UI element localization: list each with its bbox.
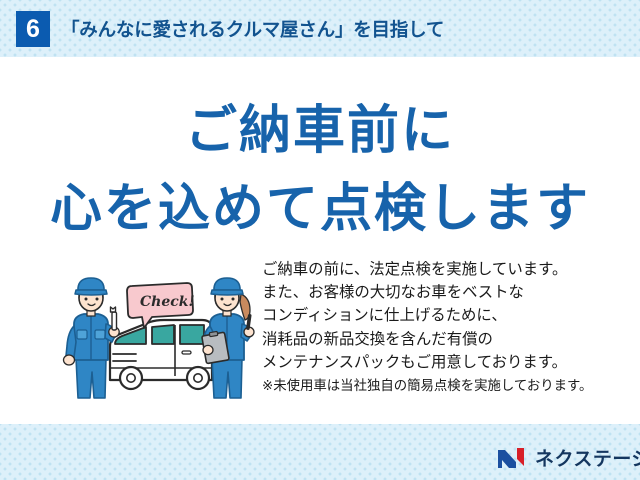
header: 6 「みんなに愛されるクルマ屋さん」を目指して [16, 11, 444, 47]
body-line: メンテナンスパックもご用意しております。 [262, 351, 634, 374]
body-line: ご納車の前に、法定点検を実施しています。 [262, 258, 634, 281]
headline-line-2: 心を込めて点検します [0, 166, 640, 241]
wrench-icon [111, 307, 117, 330]
section-number-badge: 6 [16, 11, 50, 47]
body-line: 消耗品の新品交換を含んだ有償の [262, 328, 634, 351]
speech-bubble-text: Check! [140, 294, 195, 310]
headline-line-1: ご納車前に [0, 88, 640, 163]
advertisement-frame: 6 「みんなに愛されるクルマ屋さん」を目指して ご納車前に 心を込めて点検します… [0, 0, 640, 480]
body-line: コンディションに仕上げるために、 [262, 304, 634, 327]
van-illustration [110, 320, 212, 389]
nextage-n-mark-icon [497, 446, 528, 470]
mechanics-illustration: Check! [62, 272, 262, 400]
brand-logo: ネクステージ [497, 444, 640, 471]
brand-name: ネクステージ [535, 444, 640, 471]
header-title: 「みんなに愛されるクルマ屋さん」を目指して [61, 16, 444, 42]
body-copy: ご納車の前に、法定点検を実施しています。 また、お客様の大切なお車をベストな コ… [262, 258, 634, 397]
body-note: ※未使用車は当社独自の簡易点検を実施しております。 [262, 375, 634, 397]
body-line: また、お客様の大切なお車をベストな [262, 281, 634, 304]
